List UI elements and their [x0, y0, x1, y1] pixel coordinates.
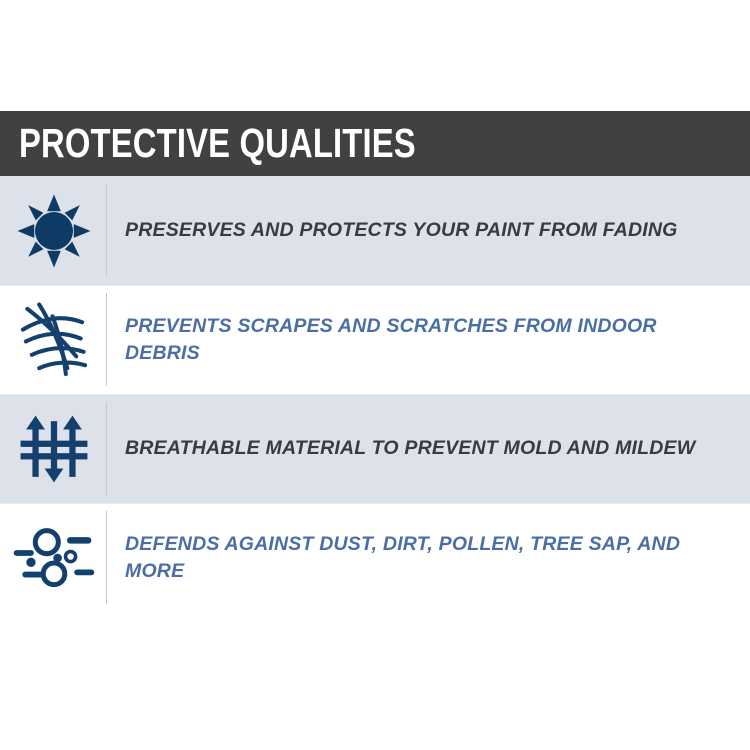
scratch-mesh-icon — [17, 300, 91, 380]
feature-label: DEFENDS AGAINST DUST, DIRT, POLLEN, TREE… — [125, 531, 726, 585]
feature-label: PREVENTS SCRAPES AND SCRATCHES FROM INDO… — [125, 313, 726, 367]
feature-row: BREATHABLE MATERIAL TO PREVENT MOLD AND … — [0, 394, 750, 503]
feature-list: PRESERVES AND PROTECTS YOUR PAINT FROM F… — [0, 176, 750, 612]
sun-icon — [16, 193, 92, 269]
text-cell: BREATHABLE MATERIAL TO PREVENT MOLD AND … — [107, 394, 750, 503]
text-cell: DEFENDS AGAINST DUST, DIRT, POLLEN, TREE… — [107, 503, 750, 612]
feature-label: BREATHABLE MATERIAL TO PREVENT MOLD AND … — [125, 435, 695, 462]
dust-particles-icon — [12, 522, 96, 594]
breathable-airflow-icon — [19, 410, 89, 488]
icon-cell — [0, 176, 107, 285]
protective-qualities-panel: PROTECTIVE QUALITIES — [0, 0, 750, 750]
feature-row: PREVENTS SCRAPES AND SCRATCHES FROM INDO… — [0, 285, 750, 394]
feature-label: PRESERVES AND PROTECTS YOUR PAINT FROM F… — [125, 217, 678, 244]
icon-cell — [0, 285, 107, 394]
icon-cell — [0, 503, 107, 612]
text-cell: PRESERVES AND PROTECTS YOUR PAINT FROM F… — [107, 176, 750, 285]
icon-cell — [0, 394, 107, 503]
feature-row: PRESERVES AND PROTECTS YOUR PAINT FROM F… — [0, 176, 750, 285]
text-cell: PREVENTS SCRAPES AND SCRATCHES FROM INDO… — [107, 285, 750, 394]
section-header-bar: PROTECTIVE QUALITIES — [0, 111, 750, 176]
feature-row: DEFENDS AGAINST DUST, DIRT, POLLEN, TREE… — [0, 503, 750, 612]
page-title: PROTECTIVE QUALITIES — [19, 123, 416, 164]
